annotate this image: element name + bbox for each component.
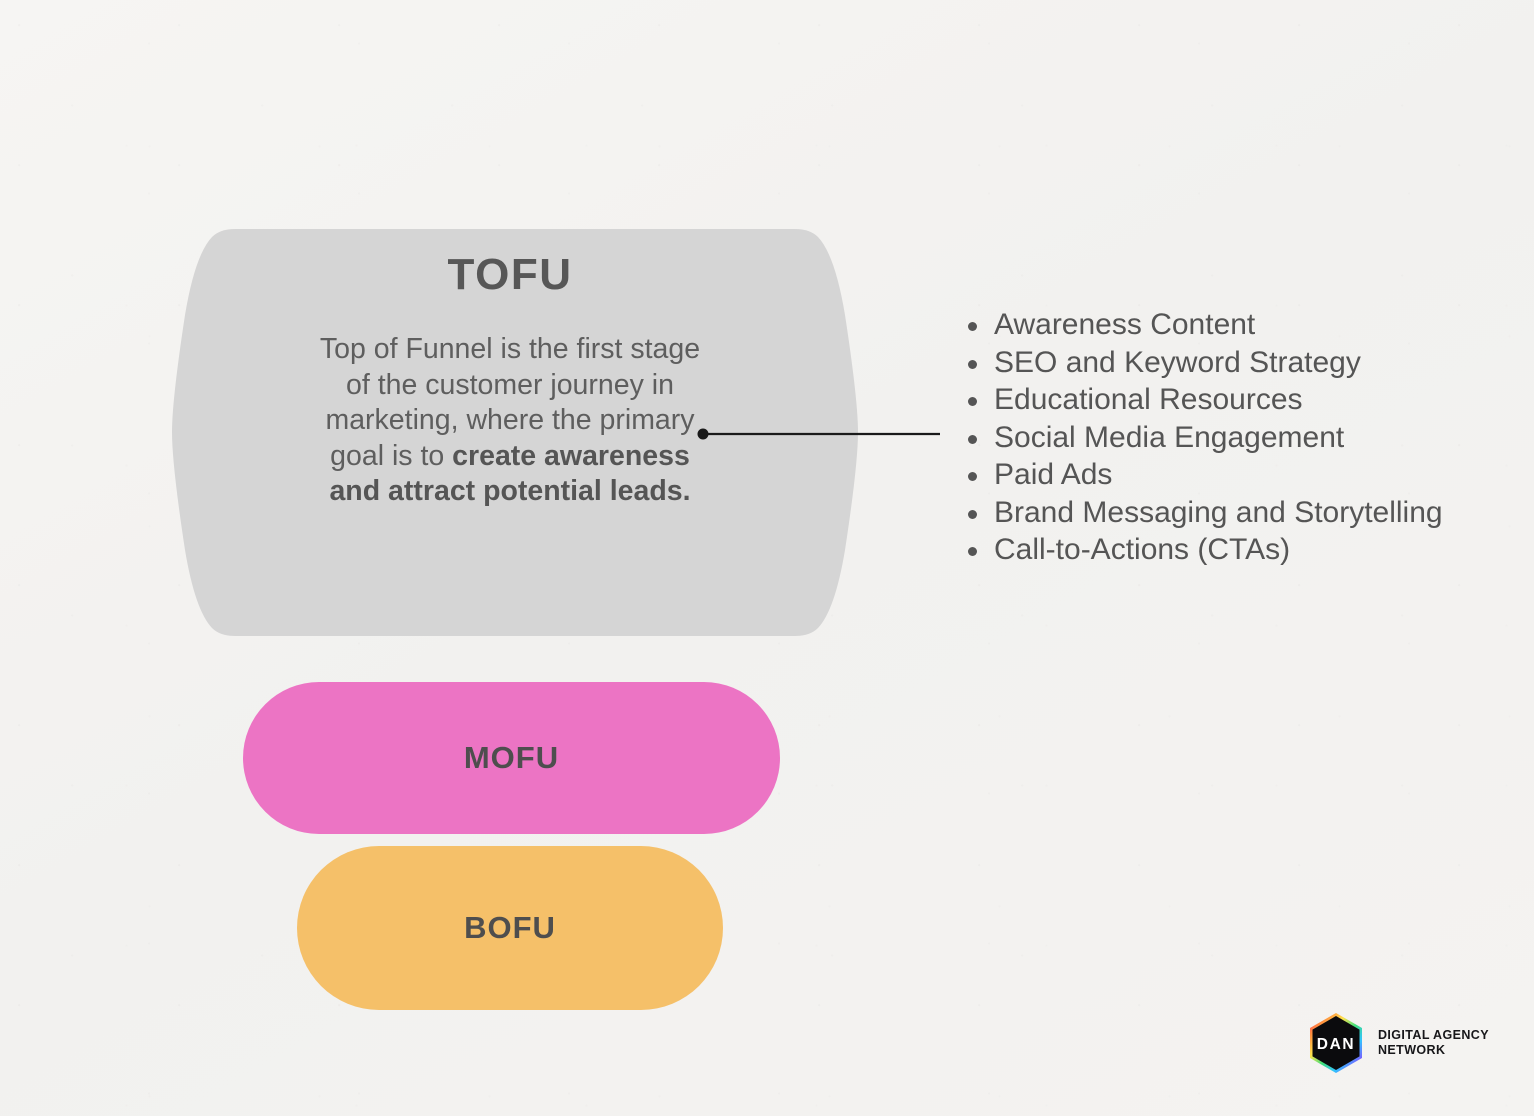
list-item: Educational Resources [962, 381, 1502, 419]
list-item: Social Media Engagement [962, 419, 1502, 457]
dan-mark-text: DAN [1317, 1036, 1355, 1053]
dan-hexagon-svg: DAN [1305, 1012, 1367, 1074]
dan-hexagon-icon: DAN [1305, 1012, 1367, 1074]
bofu-funnel-stage: BOFU [297, 846, 723, 1010]
list-item: Brand Messaging and Storytelling [962, 494, 1502, 532]
dan-wordmark-line1: DIGITAL AGENCY [1378, 1028, 1489, 1043]
bofu-label: BOFU [464, 910, 556, 946]
list-item: Paid Ads [962, 456, 1502, 494]
mofu-label: MOFU [464, 740, 559, 776]
list-item: Awareness Content [962, 306, 1502, 344]
mofu-funnel-stage: MOFU [243, 682, 780, 834]
dan-wordmark-line2: NETWORK [1378, 1043, 1489, 1058]
infographic-canvas: TOFU Top of Funnel is the first stage of… [0, 0, 1534, 1116]
tofu-callout-connector [695, 418, 955, 450]
dan-logo: DAN DIGITAL AGENCY NETWORK [1305, 1012, 1489, 1074]
dan-wordmark: DIGITAL AGENCY NETWORK [1378, 1028, 1489, 1058]
tofu-tactics-list: Awareness Content SEO and Keyword Strate… [962, 306, 1502, 569]
list-item: Call-to-Actions (CTAs) [962, 531, 1502, 569]
list-item: SEO and Keyword Strategy [962, 344, 1502, 382]
